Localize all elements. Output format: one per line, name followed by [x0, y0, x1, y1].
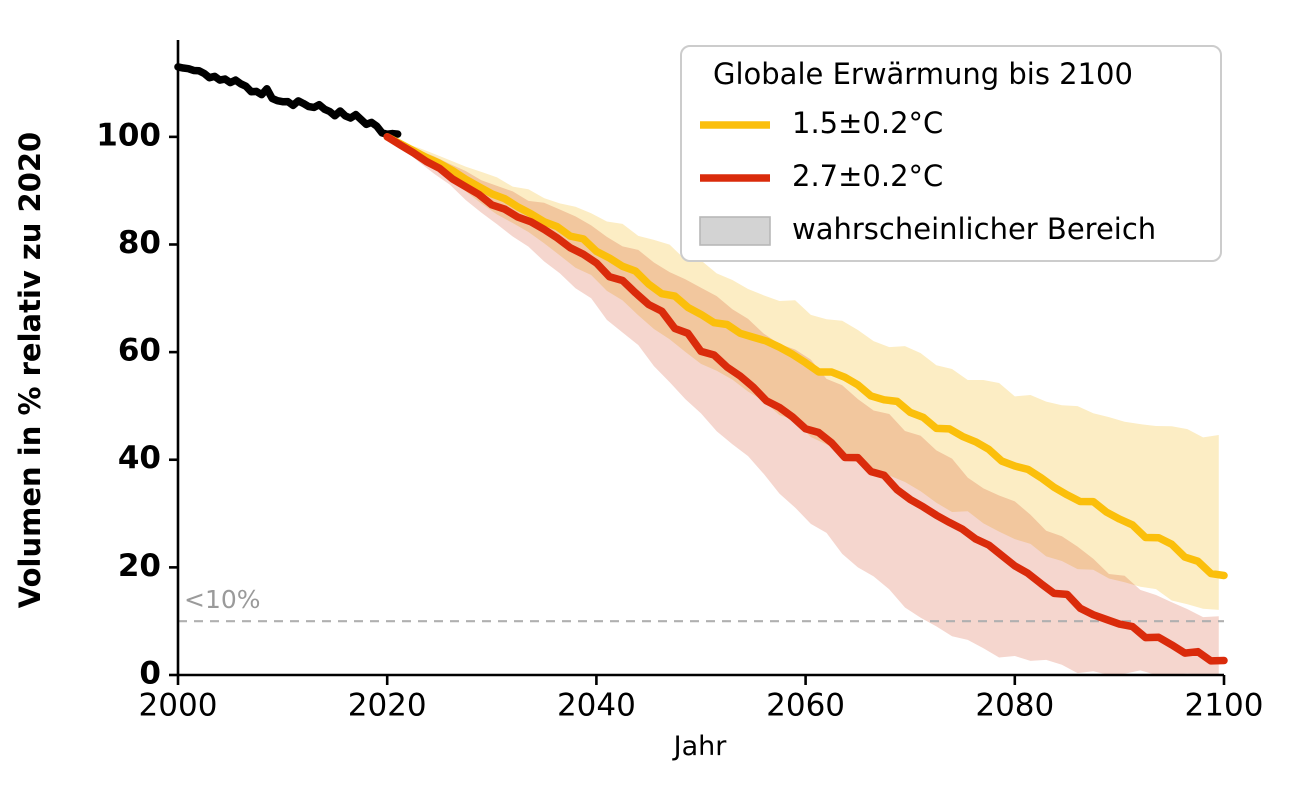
- y-tick-label: 80: [118, 225, 161, 261]
- y-axis-title: Volumen in % relativ zu 2020: [13, 132, 47, 608]
- threshold-annotation: <10%: [184, 585, 261, 614]
- y-tick-label: 40: [118, 440, 161, 476]
- legend-title: Globale Erwärmung bis 2100: [713, 57, 1133, 91]
- x-tick-label: 2080: [975, 687, 1054, 723]
- x-tick-label: 2020: [348, 687, 427, 723]
- x-tick-label: 2060: [766, 687, 845, 723]
- legend-entry-label: 1.5±0.2°C: [792, 106, 943, 140]
- x-tick-label: 2100: [1185, 687, 1264, 723]
- x-tick-label: 2040: [557, 687, 636, 723]
- chart-legend: Globale Erwärmung bis 2100 1.5±0.2°C2.7±…: [681, 46, 1221, 261]
- legend-entry-label: 2.7±0.2°C: [792, 159, 943, 193]
- y-tick-label: 60: [118, 333, 161, 369]
- x-axis-title: Jahr: [672, 731, 728, 762]
- y-tick-label: 20: [118, 548, 161, 584]
- figure-container: 020406080100200020202040206020802100 Jah…: [0, 0, 1300, 800]
- legend-entry-label: wahrscheinlicher Bereich: [792, 212, 1156, 246]
- volume-projection-chart: 020406080100200020202040206020802100 Jah…: [0, 0, 1300, 800]
- y-tick-label: 0: [139, 656, 161, 692]
- y-tick-label: 100: [96, 117, 161, 153]
- legend-patch-swatch: [700, 217, 770, 245]
- x-tick-label: 2000: [139, 687, 218, 723]
- series-line-historisch: [178, 67, 398, 134]
